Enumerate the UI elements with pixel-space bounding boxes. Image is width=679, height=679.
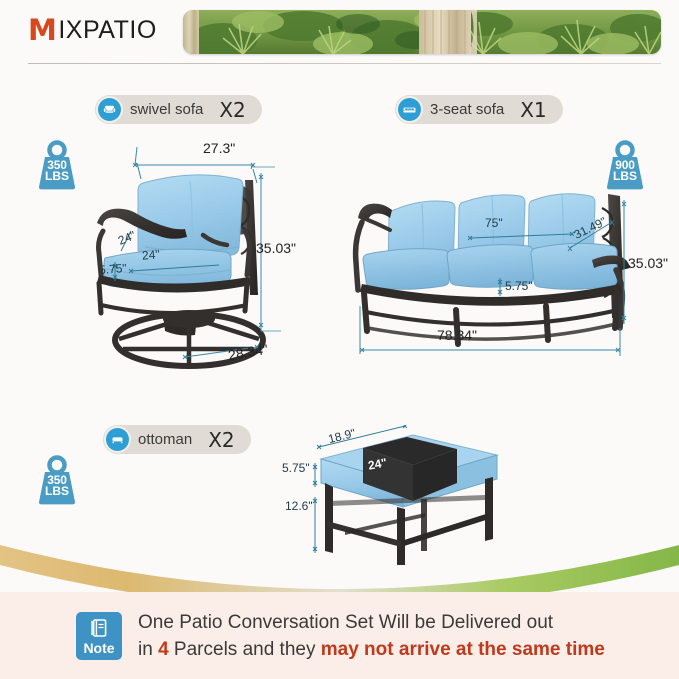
header-divider bbox=[28, 63, 661, 64]
note-badge: Note bbox=[76, 612, 122, 660]
dim-sofa-width: 78.34" bbox=[437, 327, 477, 343]
ottoman-icon bbox=[106, 428, 129, 451]
brand-name: IXPATIO bbox=[58, 16, 156, 45]
armchair-icon bbox=[98, 98, 121, 121]
product-label-swivel-sofa: swivel sofa X2 bbox=[95, 95, 262, 124]
header: MIXPATIO bbox=[0, 0, 679, 66]
dim-swivel-width: 27.3" bbox=[203, 140, 235, 156]
weight-badge-swivel-sofa: 350 LBS bbox=[32, 140, 82, 192]
note-badge-label: Note bbox=[83, 641, 114, 655]
weight-unit: LBS bbox=[32, 486, 82, 497]
product-label-ottoman: ottoman X2 bbox=[103, 425, 251, 454]
product-name: 3-seat sofa bbox=[430, 101, 504, 118]
product-name: swivel sofa bbox=[130, 101, 203, 118]
note-emphasis: may not arrive at the same time bbox=[321, 639, 605, 660]
brand-logo: MIXPATIO bbox=[28, 16, 157, 45]
note-text: One Patio Conversation Set Will be Deliv… bbox=[138, 609, 605, 663]
product-name: ottoman bbox=[138, 431, 192, 448]
product-label-three-seat-sofa: 3-seat sofa X1 bbox=[395, 95, 563, 124]
dim-sofa-cushion-thickness: 5.75" bbox=[505, 279, 533, 293]
dim-sofa-height: 35.03" bbox=[628, 255, 668, 271]
parcel-count: 4 bbox=[158, 639, 169, 660]
product-qty: X2 bbox=[219, 98, 245, 122]
dim-swivel-height: 35.03" bbox=[256, 240, 296, 256]
delivery-note: Note One Patio Conversation Set Will be … bbox=[76, 609, 605, 663]
dim-swivel-seat-width: 24" bbox=[142, 247, 161, 262]
note-line-1: One Patio Conversation Set Will be Deliv… bbox=[138, 609, 605, 636]
dim-swivel-cushion-thickness: 5.75" bbox=[99, 261, 128, 277]
notebook-icon bbox=[89, 618, 109, 640]
product-qty: X1 bbox=[520, 98, 546, 122]
three-seat-sofa-illustration bbox=[340, 160, 640, 365]
sofa-icon bbox=[398, 98, 421, 121]
dim-ottoman-cushion-thickness: 5.75" bbox=[282, 461, 310, 475]
brand-initial: M bbox=[28, 16, 57, 45]
weight-unit: LBS bbox=[32, 171, 82, 182]
dim-ottoman-leg-height: 12.6" bbox=[285, 499, 313, 513]
note-line-2: in 4 Parcels and they may not arrive at … bbox=[138, 636, 605, 663]
header-banner-image bbox=[183, 10, 661, 54]
product-qty: X2 bbox=[208, 428, 234, 452]
infographic-canvas: MIXPATIO bbox=[0, 0, 679, 679]
weight-badge-ottoman: 350 LBS bbox=[32, 455, 82, 507]
dim-sofa-seat-span: 75" bbox=[485, 216, 503, 230]
